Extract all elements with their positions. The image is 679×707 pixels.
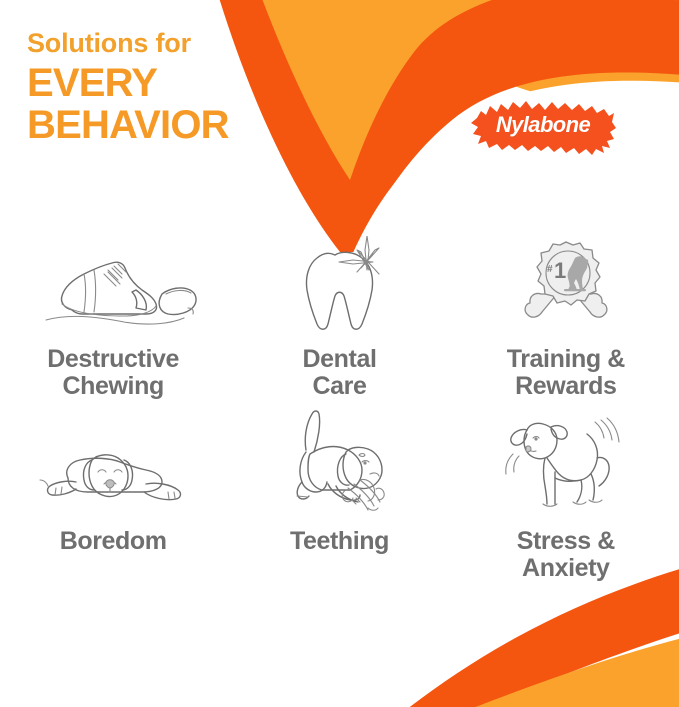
behavior-item-destructive-chewing[interactable]: Destructive Chewing (0, 236, 226, 400)
nylabone-logo[interactable]: Nylabone (468, 92, 618, 158)
headline-line-3: BEHAVIOR (27, 105, 229, 145)
chew-toy (343, 479, 385, 510)
behavior-item-teething[interactable]: Teething (226, 422, 452, 582)
behavior-row-1: Destructive Chewing (0, 236, 679, 400)
behavior-item-training-rewards[interactable]: # 1 Training & Rewards (453, 236, 679, 400)
puppy-chewing-toy-icon (274, 422, 404, 518)
behavior-label: Boredom (60, 528, 167, 555)
bottom-swoosh-dark-band (398, 566, 679, 707)
behavior-row-2: Boredom (0, 422, 679, 582)
anxious-standing-dog-icon (501, 422, 631, 518)
behavior-label: Dental Care (302, 346, 376, 400)
award-rosette-dog-icon: # 1 (511, 236, 621, 336)
badge-rank-number: 1 (554, 258, 566, 283)
lying-dog-icon (28, 422, 198, 518)
behavior-item-dental-care[interactable]: Dental Care (226, 236, 452, 400)
logo-wordmark: Nylabone (468, 92, 618, 158)
headline-line-2: EVERY (27, 63, 229, 103)
behavior-item-boredom[interactable]: Boredom (0, 422, 226, 582)
bottom-swoosh-light-band (452, 636, 679, 707)
chewed-shoe-icon (28, 236, 198, 336)
nylabone-behavior-infographic: Solutions for EVERY BEHAVIOR Nylabone (0, 0, 679, 707)
sparkling-tooth-icon (279, 236, 399, 336)
sparkle (339, 236, 379, 274)
headline-line-1: Solutions for (27, 30, 229, 57)
behavior-label: Stress & Anxiety (517, 528, 615, 582)
behavior-label: Training & Rewards (507, 346, 625, 400)
behavior-grid: Destructive Chewing (0, 236, 679, 582)
behavior-label: Teething (290, 528, 389, 555)
behavior-item-stress-anxiety[interactable]: Stress & Anxiety (453, 422, 679, 582)
badge-rank-hash: # (547, 264, 553, 275)
behavior-label: Destructive Chewing (47, 346, 179, 400)
headline: Solutions for EVERY BEHAVIOR (27, 30, 229, 147)
